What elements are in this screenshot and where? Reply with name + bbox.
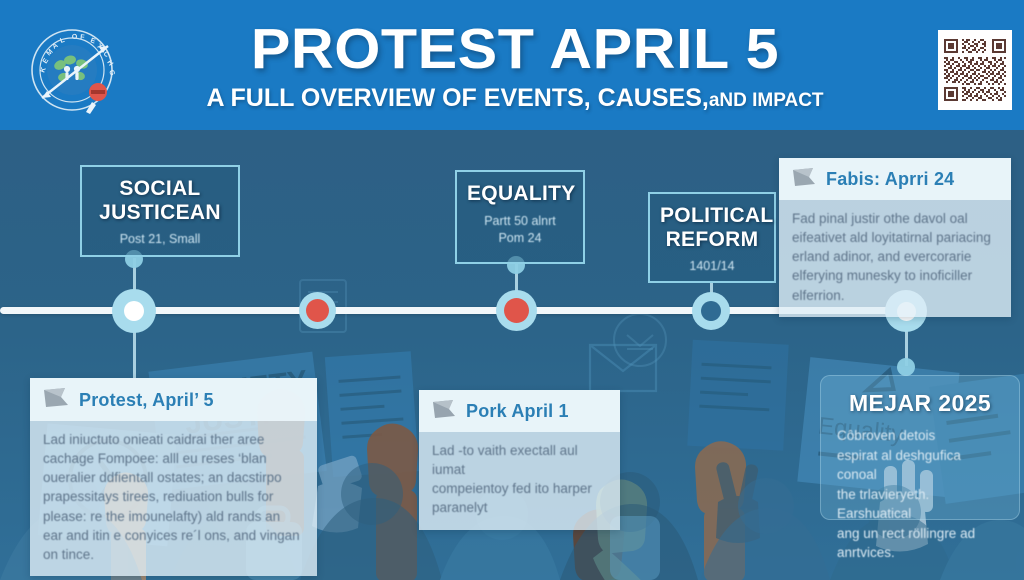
card-protest-april-5-body-line: oueralier ddfientall ostates; an dacstir… bbox=[43, 468, 304, 487]
node-social-justice[interactable] bbox=[112, 289, 156, 333]
card-protest-april-5-body-line: Lad iniuctuto onieati caidrai ther aree bbox=[43, 430, 304, 449]
card-social-justice-subtitle: Post 21, Small bbox=[92, 231, 228, 249]
card-fabis-body-line: elferrion. bbox=[792, 286, 998, 305]
card-pork-april-1-body-line: compeientoy fed ito harper bbox=[432, 479, 607, 498]
card-pork-april-1-title: Pork April 1 bbox=[466, 401, 569, 422]
card-protest-april-5-body-line: please: re the imounelafty) ald rands an bbox=[43, 507, 304, 526]
card-equality-subtitle-line2: Pom 24 bbox=[498, 231, 541, 245]
card-pork-april-1-body-line: Lad -to vaith exectall aul iumat bbox=[432, 441, 607, 479]
svg-text:O: O bbox=[72, 34, 78, 41]
card-pork-april-1-header: Pork April 1 bbox=[419, 390, 620, 432]
svg-text:H: H bbox=[105, 59, 114, 67]
flag-icon bbox=[431, 398, 457, 425]
poster-header: K E M A L O F E X C H G PROTEST APRIL 5 … bbox=[0, 0, 1024, 130]
card-mejar-2025-body: Côbroven detois espirat al deshgufica co… bbox=[837, 426, 1003, 563]
card-fabis-body-line: eifeativet ald loyitatirnal pariacing bbox=[792, 228, 998, 247]
card-protest-april-5[interactable]: Protest, April’ 5 Lad iniuctuto onieati … bbox=[30, 378, 317, 576]
card-fabis-body-line: erland adinor, and evercorarie bbox=[792, 247, 998, 266]
card-protest-april-5-body: Lad iniuctuto onieati caidrai ther aree … bbox=[30, 421, 317, 576]
card-political-reform[interactable]: POLITICAL REFORM 1401/14 bbox=[648, 192, 776, 283]
card-protest-april-5-body-line: on tince. bbox=[43, 545, 304, 564]
card-social-justice-title: SOCIAL JUSTICEAN bbox=[92, 177, 228, 224]
card-fabis-body-line: elferying munesky to inoficiller bbox=[792, 266, 998, 285]
card-social-justice-title-line1: SOCIAL bbox=[119, 177, 200, 200]
card-fabis-title: Fabis: Aprri 24 bbox=[826, 169, 954, 190]
card-pork-april-1-body-line: paranelyt bbox=[432, 498, 607, 517]
card-mejar-2025-body-line: espirat al deshgufica conoal bbox=[837, 446, 1003, 485]
qr-code[interactable] bbox=[938, 30, 1012, 110]
card-mejar-2025-body-line: ang un rect röllingre ad bbox=[837, 524, 1003, 544]
card-mejar-2025-body-line: the trlavieryeth. Earshuatical bbox=[837, 485, 1003, 524]
flag-icon bbox=[42, 386, 70, 414]
card-mejar-2025-body-line: anrtvices. bbox=[837, 543, 1003, 563]
card-fabis[interactable]: Fabis: Aprri 24 Fad pinal justir othe da… bbox=[779, 158, 1011, 317]
card-social-justice-title-line2: JUSTICEAN bbox=[99, 201, 221, 224]
card-political-reform-subtitle: 1401/14 bbox=[660, 258, 764, 276]
card-equality-subtitle: Partt 50 alnrt Pom 24 bbox=[467, 213, 573, 248]
node-social-justice-core bbox=[124, 301, 144, 321]
flag-icon bbox=[791, 166, 817, 193]
page-subtitle-tail: aND IMPACT bbox=[709, 90, 824, 111]
card-protest-april-5-body-line: ear and itin e conyices re´l ons, and vi… bbox=[43, 526, 304, 545]
connector-dot-mejar bbox=[897, 358, 915, 376]
svg-text:L: L bbox=[59, 37, 66, 45]
card-political-reform-title-line1: POLITICAL bbox=[660, 204, 774, 227]
card-fabis-body: Fad pinal justir othe davol oal eifeativ… bbox=[779, 200, 1011, 317]
card-mejar-2025[interactable]: MEJAR 2025 Côbroven detois espirat al de… bbox=[820, 375, 1020, 520]
poster-body: SOCIETY JUSTICE bbox=[0, 130, 1024, 580]
page-title: PROTEST APRIL 5 bbox=[146, 20, 884, 80]
svg-text:K: K bbox=[39, 66, 47, 73]
node-red-second-core bbox=[504, 298, 529, 323]
node-red-first[interactable] bbox=[299, 292, 336, 329]
card-pork-april-1[interactable]: Pork April 1 Lad -to vaith exectall aul … bbox=[419, 390, 620, 530]
card-political-reform-title: POLITICAL REFORM bbox=[660, 204, 764, 251]
node-ring[interactable] bbox=[692, 292, 730, 330]
header-title-group: PROTEST APRIL 5 A FULL OVERVIEW OF EVENT… bbox=[160, 20, 870, 112]
card-protest-april-5-body-line: prapessitays tirees, rediuation bulls fo… bbox=[43, 487, 304, 506]
card-fabis-body-line: Fad pinal justir othe davol oal bbox=[792, 209, 998, 228]
card-protest-april-5-title: Protest, April’ 5 bbox=[79, 390, 214, 411]
card-equality-subtitle-line1: Partt 50 alnrt bbox=[484, 214, 556, 228]
node-red-second[interactable] bbox=[496, 290, 537, 331]
organization-seal-logo: K E M A L O F E X C H G bbox=[20, 20, 125, 125]
infographic-poster: K E M A L O F E X C H G PROTEST APRIL 5 … bbox=[0, 0, 1024, 580]
node-red-first-core bbox=[306, 299, 329, 322]
card-equality[interactable]: EQUALITY Partt 50 alnrt Pom 24 bbox=[455, 170, 585, 264]
card-political-reform-title-line2: REFORM bbox=[666, 228, 759, 251]
card-mejar-2025-title: MEJAR 2025 bbox=[837, 390, 1003, 417]
page-subtitle: A FULL OVERVIEW OF EVENTS, CAUSES,aND IM… bbox=[160, 85, 870, 113]
card-equality-title: EQUALITY bbox=[467, 182, 573, 206]
card-protest-april-5-header: Protest, April’ 5 bbox=[30, 378, 317, 421]
card-mejar-2025-body-line: Côbroven detois bbox=[837, 426, 1003, 446]
card-social-justice[interactable]: SOCIAL JUSTICEAN Post 21, Small bbox=[80, 165, 240, 257]
card-fabis-header: Fabis: Aprri 24 bbox=[779, 158, 1011, 200]
node-ring-core bbox=[701, 301, 721, 321]
page-subtitle-main: A FULL OVERVIEW OF EVENTS, CAUSES, bbox=[206, 84, 708, 112]
card-protest-april-5-body-line: cachage Fompoee: alll eu reses ‘blan bbox=[43, 449, 304, 468]
card-pork-april-1-body: Lad -to vaith exectall aul iumat compeie… bbox=[419, 432, 620, 530]
